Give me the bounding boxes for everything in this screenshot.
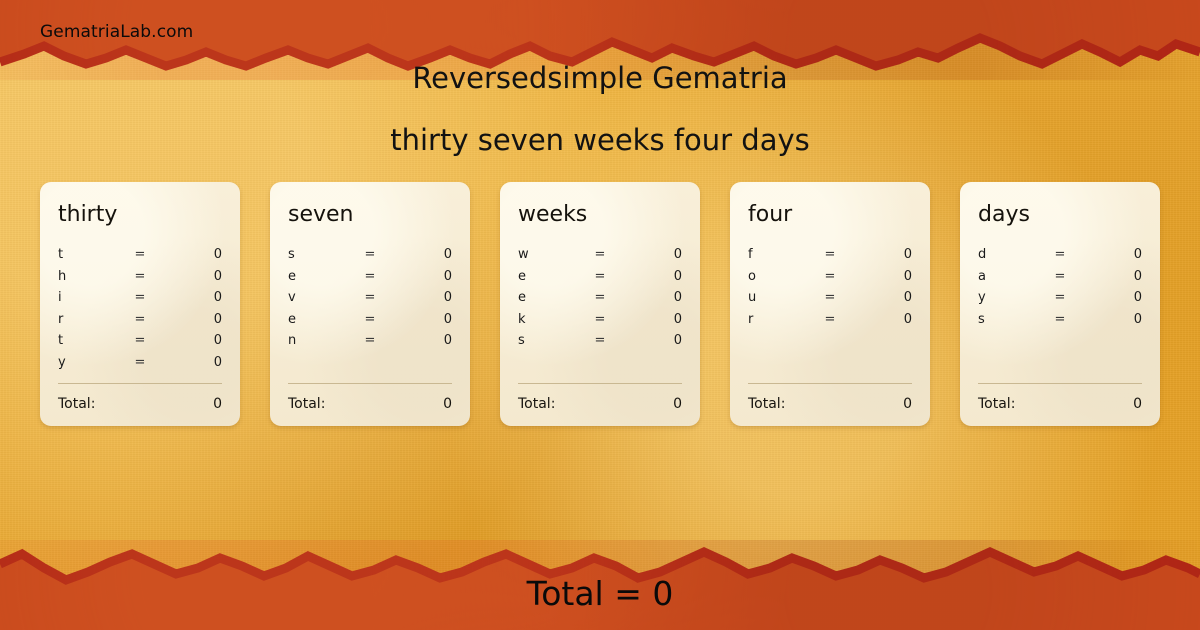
equals-sign: = — [580, 312, 619, 327]
letter-row: i=0 — [58, 287, 222, 309]
letter-row: a=0 — [978, 266, 1142, 288]
equals-sign: = — [350, 333, 389, 348]
letter-value: 0 — [390, 290, 452, 305]
letter-value: 0 — [160, 269, 222, 284]
card-total-value: 0 — [903, 396, 912, 412]
letter-value: 0 — [620, 247, 682, 262]
card-total-value: 0 — [443, 396, 452, 412]
word-card-title: thirty — [58, 200, 222, 230]
letter-char: t — [58, 333, 120, 348]
card-total-label: Total: — [978, 396, 1015, 412]
word-card: fourf=0o=0u=0r=0Total:0 — [730, 182, 930, 426]
equals-sign: = — [810, 290, 849, 305]
word-card-footer: Total:0 — [518, 383, 682, 412]
card-total-label: Total: — [58, 396, 95, 412]
letter-value: 0 — [390, 247, 452, 262]
letter-value: 0 — [390, 312, 452, 327]
letter-value: 0 — [620, 290, 682, 305]
word-card-footer: Total:0 — [748, 383, 912, 412]
letter-row: d=0 — [978, 244, 1142, 266]
letter-row: y=0 — [978, 287, 1142, 309]
letter-row: s=0 — [288, 244, 452, 266]
word-card: daysd=0a=0y=0s=0Total:0 — [960, 182, 1160, 426]
letter-value: 0 — [850, 290, 912, 305]
letter-value: 0 — [850, 247, 912, 262]
phrase-title: thirty seven weeks four days — [0, 118, 1200, 162]
letter-row: n=0 — [288, 330, 452, 352]
equals-sign: = — [1040, 312, 1079, 327]
equals-sign: = — [120, 333, 159, 348]
letter-row: u=0 — [748, 287, 912, 309]
letter-char: y — [978, 290, 1040, 305]
letter-char: f — [748, 247, 810, 262]
word-card-footer: Total:0 — [978, 383, 1142, 412]
letter-char: k — [518, 312, 580, 327]
letter-char: e — [288, 269, 350, 284]
word-card-footer: Total:0 — [58, 383, 222, 412]
equals-sign: = — [580, 290, 619, 305]
letter-row: r=0 — [748, 309, 912, 331]
letter-row: s=0 — [518, 330, 682, 352]
equals-sign: = — [120, 355, 159, 370]
letter-rows: d=0a=0y=0s=0 — [978, 244, 1142, 330]
word-card: sevens=0e=0v=0e=0n=0Total:0 — [270, 182, 470, 426]
card-divider — [518, 383, 682, 384]
letter-row: e=0 — [288, 266, 452, 288]
letter-char: r — [748, 312, 810, 327]
letter-char: r — [58, 312, 120, 327]
equals-sign: = — [810, 312, 849, 327]
equals-sign: = — [120, 247, 159, 262]
equals-sign: = — [350, 290, 389, 305]
letter-row: k=0 — [518, 309, 682, 331]
letter-value: 0 — [850, 269, 912, 284]
word-card-title: seven — [288, 200, 452, 230]
letter-rows: f=0o=0u=0r=0 — [748, 244, 912, 330]
card-divider — [748, 383, 912, 384]
word-card-title: weeks — [518, 200, 682, 230]
equals-sign: = — [120, 269, 159, 284]
gematria-method-title: Reversedsimple Gematria — [0, 56, 1200, 100]
letter-value: 0 — [620, 269, 682, 284]
word-card-title: four — [748, 200, 912, 230]
letter-char: a — [978, 269, 1040, 284]
equals-sign: = — [350, 247, 389, 262]
equals-sign: = — [810, 269, 849, 284]
letter-value: 0 — [1080, 290, 1142, 305]
letter-value: 0 — [160, 290, 222, 305]
card-total-row: Total:0 — [518, 396, 682, 412]
letter-row: e=0 — [518, 266, 682, 288]
equals-sign: = — [580, 247, 619, 262]
letter-value: 0 — [1080, 312, 1142, 327]
letter-char: e — [518, 290, 580, 305]
equals-sign: = — [350, 312, 389, 327]
equals-sign: = — [1040, 269, 1079, 284]
equals-sign: = — [350, 269, 389, 284]
letter-row: h=0 — [58, 266, 222, 288]
letter-value: 0 — [160, 333, 222, 348]
letter-char: h — [58, 269, 120, 284]
card-total-label: Total: — [288, 396, 325, 412]
card-total-row: Total:0 — [288, 396, 452, 412]
letter-rows: s=0e=0v=0e=0n=0 — [288, 244, 452, 352]
equals-sign: = — [810, 247, 849, 262]
letter-row: w=0 — [518, 244, 682, 266]
letter-row: v=0 — [288, 287, 452, 309]
equals-sign: = — [120, 290, 159, 305]
letter-row: o=0 — [748, 266, 912, 288]
letter-value: 0 — [1080, 269, 1142, 284]
letter-row: e=0 — [288, 309, 452, 331]
word-card-footer: Total:0 — [288, 383, 452, 412]
letter-char: t — [58, 247, 120, 262]
letter-char: n — [288, 333, 350, 348]
card-total-label: Total: — [748, 396, 785, 412]
letter-char: s — [288, 247, 350, 262]
letter-value: 0 — [1080, 247, 1142, 262]
card-divider — [58, 383, 222, 384]
letter-value: 0 — [850, 312, 912, 327]
equals-sign: = — [1040, 290, 1079, 305]
letter-char: v — [288, 290, 350, 305]
letter-char: s — [978, 312, 1040, 327]
letter-value: 0 — [390, 333, 452, 348]
equals-sign: = — [1040, 247, 1079, 262]
card-total-value: 0 — [1133, 396, 1142, 412]
site-logo[interactable]: GematriaLab.com — [40, 22, 193, 42]
word-card: thirtyt=0h=0i=0r=0t=0y=0Total:0 — [40, 182, 240, 426]
letter-value: 0 — [160, 247, 222, 262]
letter-rows: t=0h=0i=0r=0t=0y=0 — [58, 244, 222, 373]
letter-row: t=0 — [58, 244, 222, 266]
letter-char: y — [58, 355, 120, 370]
letter-char: e — [288, 312, 350, 327]
card-divider — [288, 383, 452, 384]
card-total-row: Total:0 — [978, 396, 1142, 412]
card-total-value: 0 — [213, 396, 222, 412]
letter-row: f=0 — [748, 244, 912, 266]
poster-canvas: GematriaLab.com Reversedsimple Gematria … — [0, 0, 1200, 630]
letter-value: 0 — [620, 333, 682, 348]
equals-sign: = — [580, 269, 619, 284]
header-block: Reversedsimple Gematria thirty seven wee… — [0, 56, 1200, 162]
letter-value: 0 — [620, 312, 682, 327]
letter-value: 0 — [390, 269, 452, 284]
equals-sign: = — [120, 312, 159, 327]
letter-char: o — [748, 269, 810, 284]
letter-rows: w=0e=0e=0k=0s=0 — [518, 244, 682, 352]
letter-row: s=0 — [978, 309, 1142, 331]
letter-char: w — [518, 247, 580, 262]
word-card-title: days — [978, 200, 1142, 230]
card-divider — [978, 383, 1142, 384]
letter-char: u — [748, 290, 810, 305]
card-total-row: Total:0 — [58, 396, 222, 412]
letter-row: e=0 — [518, 287, 682, 309]
card-total-label: Total: — [518, 396, 555, 412]
word-card-list: thirtyt=0h=0i=0r=0t=0y=0Total:0sevens=0e… — [40, 182, 1160, 426]
word-card: weeksw=0e=0e=0k=0s=0Total:0 — [500, 182, 700, 426]
letter-row: y=0 — [58, 352, 222, 374]
card-total-value: 0 — [673, 396, 682, 412]
letter-value: 0 — [160, 355, 222, 370]
letter-row: r=0 — [58, 309, 222, 331]
letter-row: t=0 — [58, 330, 222, 352]
letter-char: e — [518, 269, 580, 284]
card-total-row: Total:0 — [748, 396, 912, 412]
grand-total: Total = 0 — [0, 574, 1200, 614]
letter-value: 0 — [160, 312, 222, 327]
letter-char: d — [978, 247, 1040, 262]
letter-char: i — [58, 290, 120, 305]
equals-sign: = — [580, 333, 619, 348]
letter-char: s — [518, 333, 580, 348]
